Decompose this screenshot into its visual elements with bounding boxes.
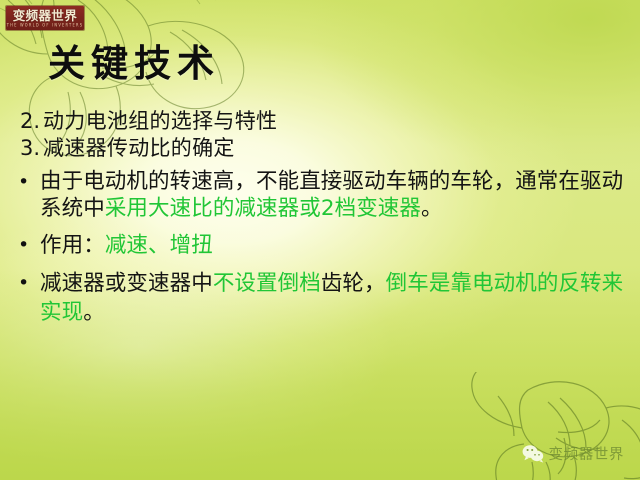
bullet-run-highlight: 减速、增扭 <box>105 233 213 258</box>
bullet-marker-icon: • <box>18 269 40 298</box>
bullet-marker-icon: • <box>18 168 40 197</box>
bullet-run-plain: 减速器或变速器中 <box>40 271 213 296</box>
bullet-run-highlight: 不设置倒档 <box>213 271 321 296</box>
numbered-list: 2. 动力电池组的选择与特性 3. 减速器传动比的确定 <box>0 108 640 162</box>
brand-logo: 变频器世界 THE WORLD OF INVERTERS <box>6 6 84 30</box>
numbered-list-text: 减速器传动比的确定 <box>43 135 640 162</box>
bullet-run-plain: 。 <box>83 300 105 325</box>
bullet-run-highlight: 采用大速比的减速器或2档变速器 <box>105 196 421 221</box>
watermark: 变频器世界 <box>522 443 625 464</box>
watermark-label: 变频器世界 <box>549 443 625 464</box>
bullet-list-item: • 作用：减速、增扭 <box>0 231 640 260</box>
slide-title: 关键技术 <box>48 42 220 86</box>
bullet-list-text: 由于电动机的转速高，不能直接驱动车辆的车轮，通常在驱动系统中采用大速比的减速器或… <box>40 168 640 222</box>
numbered-list-item: 2. 动力电池组的选择与特性 <box>0 108 640 135</box>
bullet-list-text: 作用：减速、增扭 <box>40 231 640 260</box>
bullet-run-plain: 作用： <box>40 233 105 258</box>
numbered-list-item: 3. 减速器传动比的确定 <box>0 135 640 162</box>
presentation-slide: 变频器世界 THE WORLD OF INVERTERS 关键技术 2. 动力电… <box>0 0 640 480</box>
bullet-run-plain: 齿轮， <box>321 271 386 296</box>
bullet-run-plain: 。 <box>421 196 443 221</box>
numbered-list-text: 动力电池组的选择与特性 <box>43 108 640 135</box>
bullet-list-item: • 由于电动机的转速高，不能直接驱动车辆的车轮，通常在驱动系统中采用大速比的减速… <box>0 168 640 222</box>
bullet-list-item: • 减速器或变速器中不设置倒档齿轮，倒车是靠电动机的反转来实现。 <box>0 269 640 327</box>
numbered-list-marker: 2. <box>20 108 43 135</box>
numbered-list-marker: 3. <box>20 135 43 162</box>
wechat-icon <box>522 444 544 463</box>
brand-logo-name: 变频器世界 <box>13 9 78 22</box>
bullet-list: • 由于电动机的转速高，不能直接驱动车辆的车轮，通常在驱动系统中采用大速比的减速… <box>0 168 640 327</box>
slide-body: 2. 动力电池组的选择与特性 3. 减速器传动比的确定 • 由于电动机的转速高，… <box>0 108 640 336</box>
brand-logo-tagline: THE WORLD OF INVERTERS <box>7 21 84 29</box>
bullet-marker-icon: • <box>18 231 40 260</box>
bullet-list-text: 减速器或变速器中不设置倒档齿轮，倒车是靠电动机的反转来实现。 <box>40 269 640 327</box>
